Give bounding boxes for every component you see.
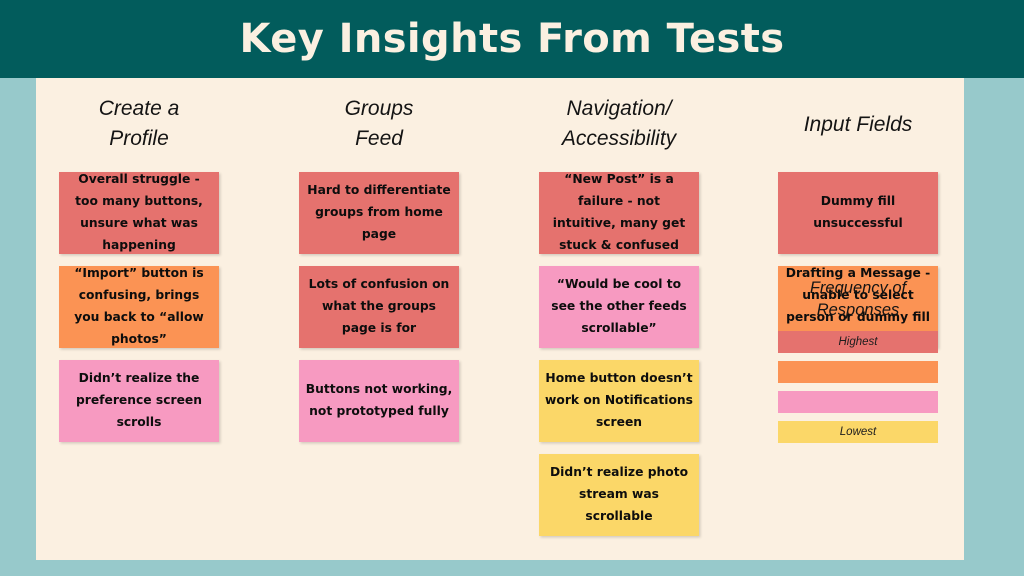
legend-bar-high [778, 361, 938, 383]
column-input-fields: Input Fields Dummy fill unsuccessful Dra… [778, 78, 938, 140]
column-navigation-accessibility: Navigation/ Accessibility “New Post” is … [539, 78, 699, 155]
insight-card: “Would be cool to see the other feeds sc… [539, 266, 699, 348]
legend-title-line1: Frequency of [778, 278, 938, 300]
column-heading: Navigation/ Accessibility [539, 94, 699, 155]
column-heading-line1: Input Fields [778, 110, 938, 140]
column-heading-line1: Groups [299, 94, 459, 124]
legend-bar-medium [778, 391, 938, 413]
column-groups-feed: Groups Feed Hard to differentiate groups… [299, 78, 459, 155]
legend-bar-lowest: Lowest [778, 421, 938, 443]
column-heading-line1: Create a [59, 94, 219, 124]
insight-card: Lots of confusion on what the groups pag… [299, 266, 459, 348]
insight-card: Didn’t realize photo stream was scrollab… [539, 454, 699, 536]
legend-title: Frequency of Responses [778, 278, 938, 322]
column-heading-line2: Feed [299, 124, 459, 154]
card-list: Overall struggle - too many buttons, uns… [59, 172, 219, 454]
insight-card: “New Post” is a failure - not intuitive,… [539, 172, 699, 254]
insight-card: Hard to differentiate groups from home p… [299, 172, 459, 254]
slide: Key Insights From Tests Create a Profile… [0, 0, 1024, 576]
column-create-a-profile: Create a Profile Overall struggle - too … [59, 78, 219, 155]
column-heading: Groups Feed [299, 94, 459, 155]
legend-bar-highest: Highest [778, 331, 938, 353]
insight-card: Home button doesn’t work on Notification… [539, 360, 699, 442]
column-heading-line2: Accessibility [539, 124, 699, 154]
insight-card: Overall struggle - too many buttons, uns… [59, 172, 219, 254]
column-heading-line1: Navigation/ [539, 94, 699, 124]
legend-title-line2: Responses [778, 300, 938, 322]
insight-card: Buttons not working, not prototyped full… [299, 360, 459, 442]
insight-card: Didn’t realize the preference screen scr… [59, 360, 219, 442]
column-heading: Input Fields [778, 110, 938, 140]
column-heading-line2: Profile [59, 124, 219, 154]
header-band: Key Insights From Tests [0, 0, 1024, 78]
frequency-legend: Frequency of Responses Highest Lowest [778, 278, 938, 451]
column-heading: Create a Profile [59, 94, 219, 155]
content-canvas: Create a Profile Overall struggle - too … [36, 78, 964, 560]
card-list: “New Post” is a failure - not intuitive,… [539, 172, 699, 548]
page-title: Key Insights From Tests [0, 0, 1024, 78]
card-list: Hard to differentiate groups from home p… [299, 172, 459, 454]
insight-card: Dummy fill unsuccessful [778, 172, 938, 254]
insight-card: “Import” button is confusing, brings you… [59, 266, 219, 348]
